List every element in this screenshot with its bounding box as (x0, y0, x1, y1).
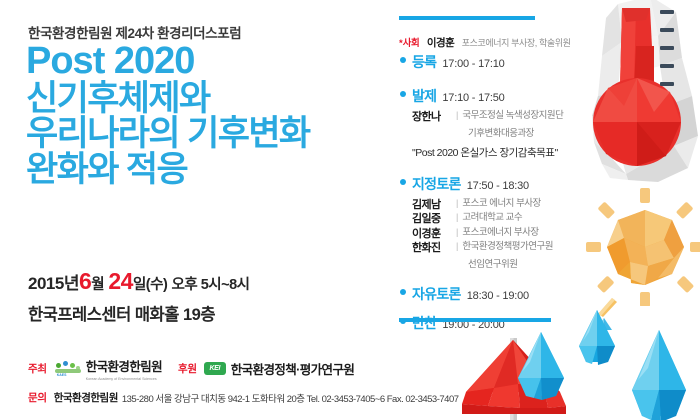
moderator-line: *사회 이경훈 포스코에너지 부사장, 학술위원 (399, 33, 571, 51)
panelist-affiliation: 고려대학교 교수 (462, 212, 522, 225)
sponsor-name: 한국환경정책·평가연구원 (231, 359, 354, 378)
event-datetime-block: 2015년6월 24일(수) 오후 5시~8시 한국프레스센터 매화홀 19층 (28, 268, 250, 325)
agenda-list: 등록 17:00 - 17:10 발제 17:10 - 17:50 장한나 | … (392, 52, 700, 333)
list-item: 한화진 | 한국환경정책평가연구원 (412, 241, 700, 256)
panelist-affiliation-line2: 선임연구위원 (468, 256, 700, 270)
event-month-number: 6 (79, 268, 91, 294)
agenda-title: 등록 (412, 52, 436, 72)
page-title: Post 2020 신기후체제와 우리나라의 기후변화 완화와 적응 (26, 42, 310, 188)
event-kicker: 한국환경한림원 제24차 환경리더스포럼 (28, 22, 241, 42)
agenda-item-registration: 등록 17:00 - 17:10 (392, 52, 700, 72)
agenda-title: 자유토론 (412, 284, 461, 304)
list-item: 김제남 | 포스코 에너지 부사장 (412, 198, 700, 213)
speaker-name: 장한나 (412, 110, 452, 125)
panelist-affiliation: 포스코에너지 부사장 (462, 227, 538, 240)
speaker-affiliation-line2: 기후변화대응과장 (468, 125, 700, 139)
panelist-affiliation: 한국환경정책평가연구원 (462, 241, 553, 254)
agenda-time: 18:30 - 19:00 (467, 290, 529, 302)
host-name: 한국환경한림원 (86, 360, 162, 374)
sponsor-label: 후원 (178, 361, 197, 376)
agenda-item-panel-discussion: 지정토론 17:50 - 18:30 김제남 | 포스코 에너지 부사장 김일중… (392, 174, 700, 270)
program-column: *사회 이경훈 포스코에너지 부사장, 학술위원 등록 17:00 - 17:1… (392, 0, 700, 420)
panelist-affiliation: 포스코 에너지 부사장 (462, 198, 540, 211)
panelist-name: 이경훈 (412, 227, 452, 242)
headline-line-4: 완화와 적응 (26, 152, 310, 188)
agenda-item-dinner: 만찬 19:00 - 20:00 (392, 313, 700, 333)
speaker-affiliation: 국무조정실 녹색성장지원단 (462, 110, 563, 123)
agenda-title: 지정토론 (412, 174, 461, 194)
agenda-time: 17:10 - 17:50 (442, 92, 504, 104)
kei-logo-icon: KEI (204, 362, 226, 375)
contact-organization: 한국환경한림원 (54, 390, 118, 405)
top-divider (399, 16, 535, 20)
agenda-title: 발제 (412, 86, 436, 106)
separator: | (456, 110, 458, 122)
headline-line-1: Post 2020 (26, 42, 310, 81)
event-day-unit: 일(수) (133, 277, 167, 293)
headline-line-3: 우리나라의 기후변화 (26, 116, 310, 152)
agenda-item-presentation: 발제 17:10 - 17:50 장한나 | 국무조정실 녹색성장지원단 기후변… (392, 86, 700, 160)
event-year: 2015년 (28, 274, 79, 293)
poster-root: 한국환경한림원 제24차 환경리더스포럼 Post 2020 신기후체제와 우리… (0, 0, 700, 420)
agenda-panelist-list: 김제남 | 포스코 에너지 부사장 김일중 | 고려대학교 교수 이경훈 | 포… (412, 198, 700, 270)
list-item: 장한나 | 국무조정실 녹색성장지원단 (412, 110, 700, 125)
event-time: 오후 5시~8시 (172, 277, 250, 293)
headline-line-2: 신기후체제와 (26, 81, 310, 117)
moderator-name: 이경훈 (427, 37, 454, 49)
bullet-dot-icon (400, 57, 406, 63)
agenda-speaker-list: 장한나 | 국무조정실 녹색성장지원단 기후변화대응과장 (412, 110, 700, 139)
presentation-title: "Post 2020 온실가스 장기감축목표" (412, 145, 700, 160)
panelist-name: 김일중 (412, 212, 452, 227)
kaes-logo-caption: KAES (57, 373, 67, 377)
agenda-time: 17:00 - 17:10 (442, 58, 504, 70)
panelist-name: 김제남 (412, 198, 452, 213)
left-content-column: 한국환경한림원 제24차 환경리더스포럼 Post 2020 신기후체제와 우리… (0, 0, 392, 420)
moderator-role: 사회 (403, 38, 420, 49)
event-date-line: 2015년6월 24일(수) 오후 5시~8시 (28, 268, 250, 296)
agenda-time: 17:50 - 18:30 (467, 180, 529, 192)
host-subtitle: Korean Academy of Environmental Sciences (86, 377, 162, 381)
event-venue: 한국프레스센터 매화홀 19층 (28, 301, 250, 325)
bullet-dot-icon (400, 289, 406, 295)
host-label: 주최 (28, 361, 47, 376)
list-item: 이경훈 | 포스코에너지 부사장 (412, 227, 700, 242)
separator: | (456, 241, 458, 253)
kaes-logo-icon: KAES (54, 361, 82, 377)
bullet-dot-icon (400, 91, 406, 97)
list-item: 김일중 | 고려대학교 교수 (412, 212, 700, 227)
bottom-divider (399, 318, 551, 322)
agenda-title: 만찬 (412, 313, 436, 333)
bullet-dot-icon (400, 179, 406, 185)
moderator-affiliation: 포스코에너지 부사장, 학술위원 (462, 38, 571, 48)
agenda-item-open-discussion: 자유토론 18:30 - 19:00 (392, 284, 700, 304)
event-month-unit: 월 (91, 277, 104, 293)
event-day-number: 24 (108, 268, 133, 294)
contact-label: 문의 (28, 390, 47, 405)
separator: | (456, 212, 458, 224)
panelist-name: 한화진 (412, 241, 452, 256)
separator: | (456, 198, 458, 210)
separator: | (456, 227, 458, 239)
